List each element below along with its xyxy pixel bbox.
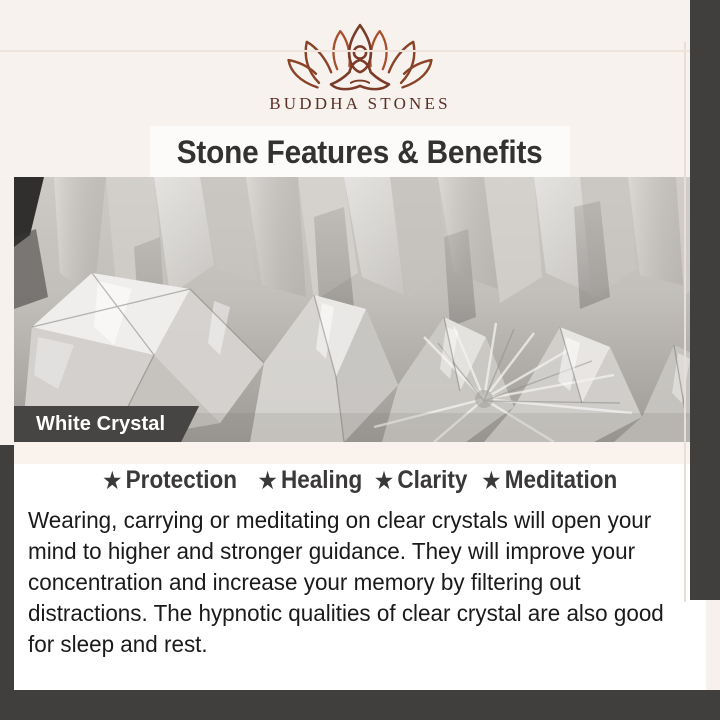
benefit-item: ★Protection [103, 466, 237, 495]
frame-bottom-border [0, 690, 720, 720]
star-icon: ★ [482, 468, 500, 493]
frame-right-border [690, 0, 720, 600]
divider-strip [14, 442, 706, 464]
star-icon: ★ [103, 468, 121, 493]
benefit-label: Clarity [397, 466, 467, 494]
description-text: Wearing, carrying or meditating on clear… [28, 505, 666, 660]
benefit-label: Protection [125, 466, 236, 494]
frame-top-hairline [0, 50, 690, 52]
title-panel: Stone Features & Benefits [150, 126, 570, 178]
frame-right-hairline [684, 42, 686, 602]
header-section: BUDDHA STONES Stone Features & Benefits [0, 0, 720, 178]
photo-caption-label: White Crystal [36, 413, 165, 436]
benefit-label: Healing [281, 466, 362, 494]
benefits-row: ★Protection★Healing★Clarity★Meditation [14, 466, 706, 495]
benefit-item: ★Healing [259, 466, 363, 495]
brand-logo: BUDDHA STONES [0, 22, 720, 114]
benefit-item: ★Clarity [375, 466, 467, 495]
frame-top-right [690, 0, 720, 52]
page-title: Stone Features & Benefits [177, 134, 543, 171]
photo-caption-chip: White Crystal [14, 406, 199, 442]
star-icon: ★ [259, 468, 277, 493]
lotus-meditation-figure-icon [0, 22, 720, 92]
benefit-label: Meditation [504, 466, 617, 494]
frame-left-border [0, 445, 14, 720]
brand-name: BUDDHA STONES [0, 94, 720, 114]
infographic-card: BUDDHA STONES Stone Features & Benefits [0, 0, 720, 720]
star-icon: ★ [375, 468, 393, 493]
benefit-item: ★Meditation [482, 466, 617, 495]
crystal-photo [14, 177, 706, 442]
